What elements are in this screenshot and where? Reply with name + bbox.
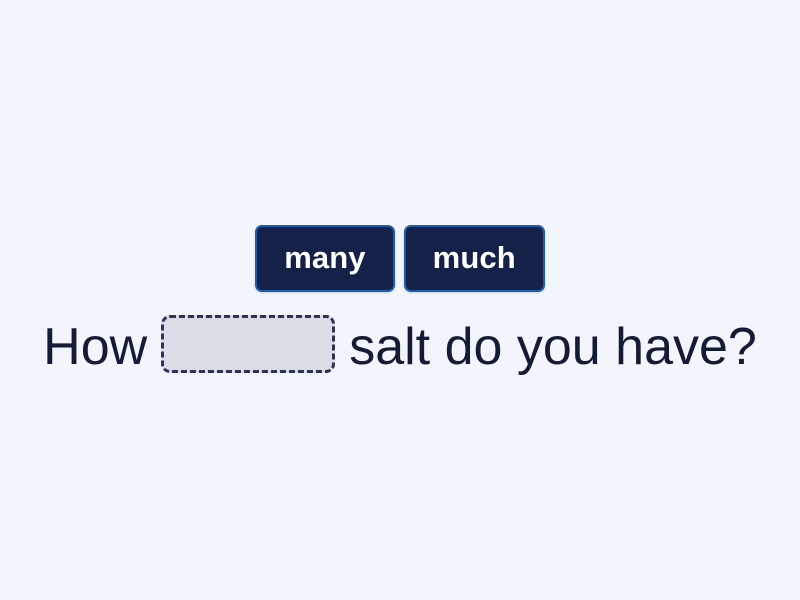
word-tile-many[interactable]: many — [255, 225, 394, 292]
word-bank: many much — [255, 225, 544, 292]
word-tile-much[interactable]: much — [404, 225, 545, 292]
blank-drop-zone[interactable] — [161, 315, 335, 373]
fill-in-the-blank-exercise: many much How salt do you have? — [0, 0, 800, 600]
sentence-lead-text: How — [43, 321, 161, 373]
sentence-line: How salt do you have? — [43, 318, 757, 376]
sentence-trailing-text: salt do you have? — [335, 321, 757, 373]
